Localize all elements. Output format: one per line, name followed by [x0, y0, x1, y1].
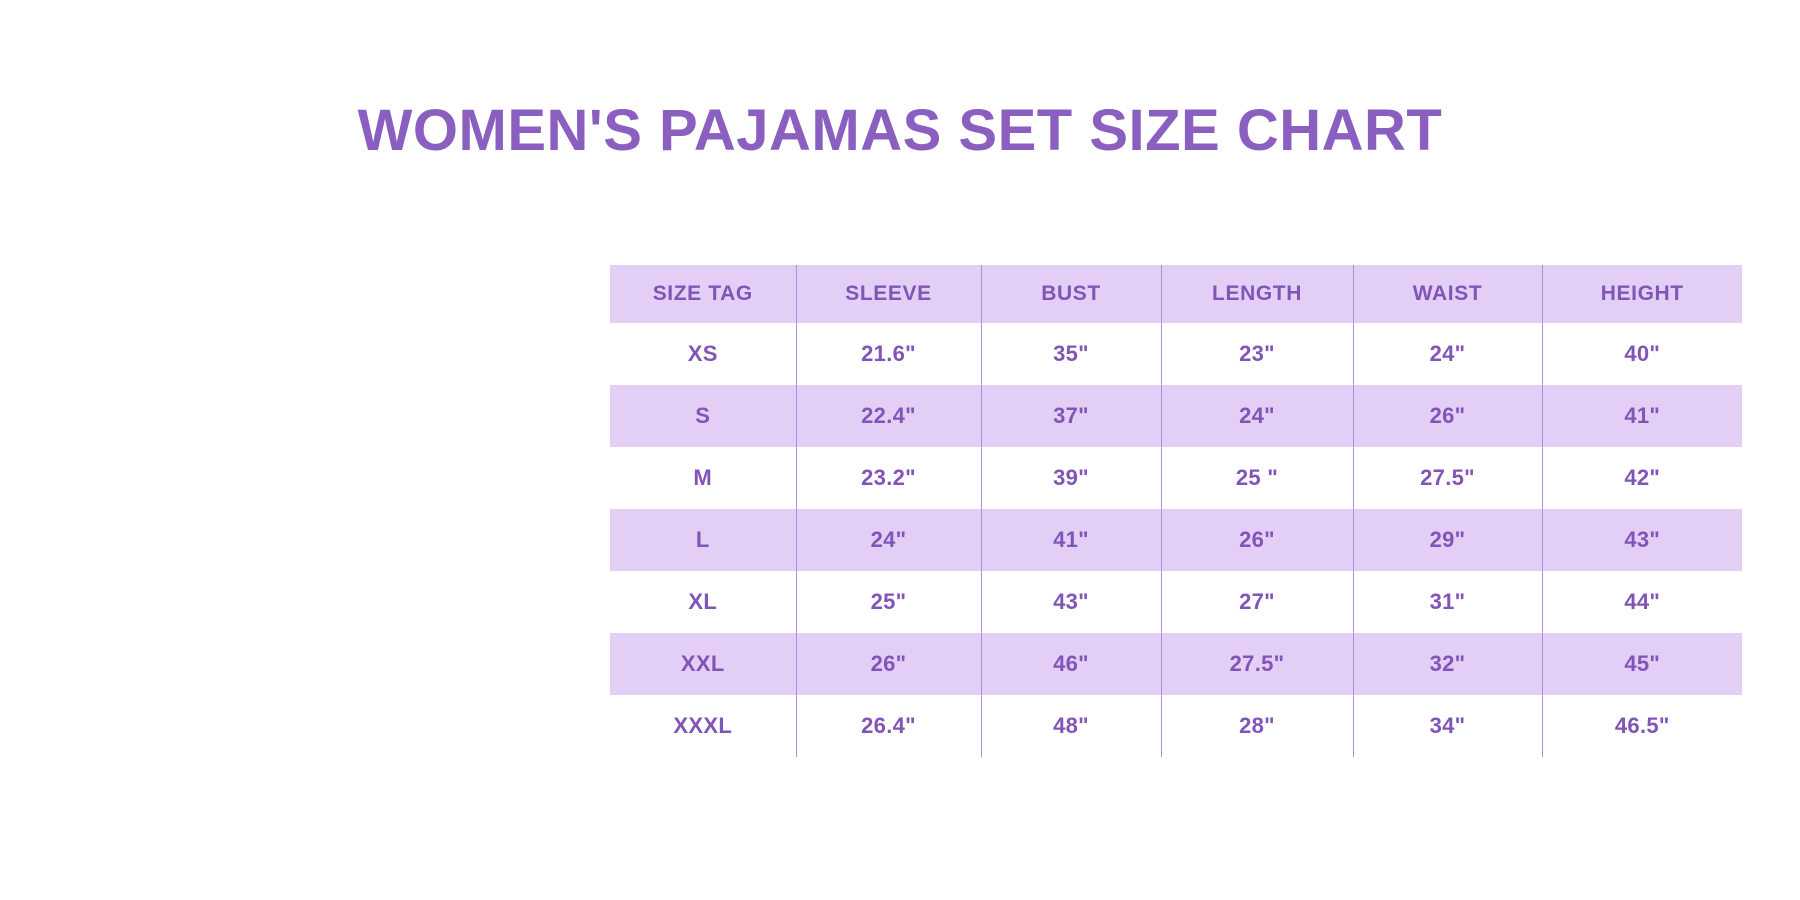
cell-bust: 39" [981, 447, 1161, 509]
size-chart-page: WOMEN'S PAJAMAS SET SIZE CHART SIZE TAG … [0, 0, 1800, 900]
size-chart-table-container: SIZE TAG SLEEVE BUST LENGTH WAIST HEIGHT… [610, 265, 1742, 757]
size-chart-table: SIZE TAG SLEEVE BUST LENGTH WAIST HEIGHT… [610, 265, 1742, 757]
cell-sleeve: 24" [796, 509, 981, 571]
table-row: XS 21.6" 35" 23" 24" 40" [610, 323, 1742, 385]
table-row: XXXL 26.4" 48" 28" 34" 46.5" [610, 695, 1742, 757]
cell-size-tag: XL [610, 571, 796, 633]
table-row: S 22.4" 37" 24" 26" 41" [610, 385, 1742, 447]
cell-waist: 27.5" [1353, 447, 1542, 509]
cell-sleeve: 22.4" [796, 385, 981, 447]
cell-waist: 34" [1353, 695, 1542, 757]
cell-size-tag: M [610, 447, 796, 509]
cell-length: 23" [1161, 323, 1353, 385]
cell-length: 27.5" [1161, 633, 1353, 695]
cell-height: 41" [1542, 385, 1742, 447]
cell-bust: 46" [981, 633, 1161, 695]
cell-sleeve: 25" [796, 571, 981, 633]
cell-waist: 24" [1353, 323, 1542, 385]
cell-height: 45" [1542, 633, 1742, 695]
cell-sleeve: 23.2" [796, 447, 981, 509]
cell-bust: 37" [981, 385, 1161, 447]
cell-waist: 26" [1353, 385, 1542, 447]
table-row: XL 25" 43" 27" 31" 44" [610, 571, 1742, 633]
table-header-row: SIZE TAG SLEEVE BUST LENGTH WAIST HEIGHT [610, 265, 1742, 323]
column-header-bust: BUST [981, 265, 1161, 323]
cell-waist: 29" [1353, 509, 1542, 571]
table-body: XS 21.6" 35" 23" 24" 40" S 22.4" 37" 24"… [610, 323, 1742, 757]
cell-length: 25 " [1161, 447, 1353, 509]
cell-size-tag: XS [610, 323, 796, 385]
table-header: SIZE TAG SLEEVE BUST LENGTH WAIST HEIGHT [610, 265, 1742, 323]
cell-height: 43" [1542, 509, 1742, 571]
cell-length: 28" [1161, 695, 1353, 757]
table-row: XXL 26" 46" 27.5" 32" 45" [610, 633, 1742, 695]
cell-bust: 35" [981, 323, 1161, 385]
cell-height: 40" [1542, 323, 1742, 385]
cell-waist: 32" [1353, 633, 1542, 695]
cell-waist: 31" [1353, 571, 1542, 633]
cell-length: 24" [1161, 385, 1353, 447]
cell-bust: 43" [981, 571, 1161, 633]
cell-height: 44" [1542, 571, 1742, 633]
column-header-sleeve: SLEEVE [796, 265, 981, 323]
column-header-height: HEIGHT [1542, 265, 1742, 323]
column-header-length: LENGTH [1161, 265, 1353, 323]
table-row: M 23.2" 39" 25 " 27.5" 42" [610, 447, 1742, 509]
cell-size-tag: XXXL [610, 695, 796, 757]
cell-height: 46.5" [1542, 695, 1742, 757]
cell-size-tag: XXL [610, 633, 796, 695]
column-header-size-tag: SIZE TAG [610, 265, 796, 323]
cell-sleeve: 26" [796, 633, 981, 695]
table-row: L 24" 41" 26" 29" 43" [610, 509, 1742, 571]
cell-bust: 48" [981, 695, 1161, 757]
cell-length: 26" [1161, 509, 1353, 571]
cell-sleeve: 21.6" [796, 323, 981, 385]
cell-bust: 41" [981, 509, 1161, 571]
page-title: WOMEN'S PAJAMAS SET SIZE CHART [358, 101, 1443, 162]
title-container: WOMEN'S PAJAMAS SET SIZE CHART [0, 62, 1800, 201]
cell-height: 42" [1542, 447, 1742, 509]
column-header-waist: WAIST [1353, 265, 1542, 323]
cell-size-tag: L [610, 509, 796, 571]
cell-sleeve: 26.4" [796, 695, 981, 757]
cell-size-tag: S [610, 385, 796, 447]
cell-length: 27" [1161, 571, 1353, 633]
